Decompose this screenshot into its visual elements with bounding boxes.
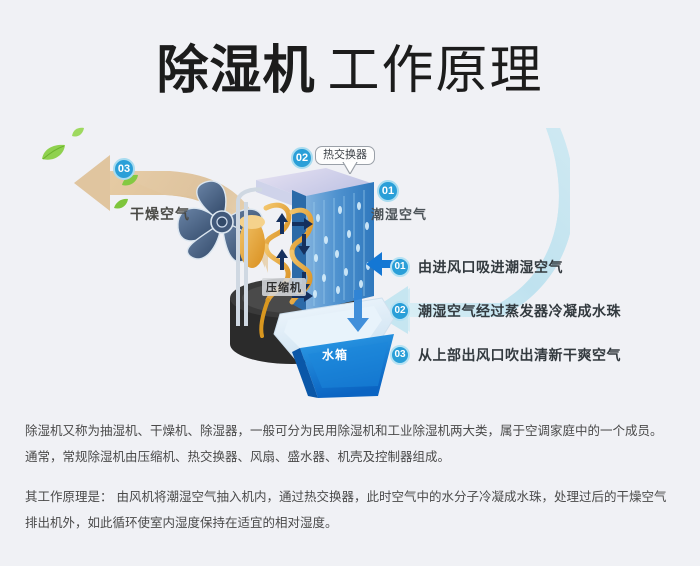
diagram-badge-01: 01	[377, 180, 399, 202]
diagram-badge-03: 03	[113, 158, 135, 180]
legend-label-01: 由进风口吸进潮湿空气	[418, 257, 563, 277]
label-humid-air: 潮湿空气	[371, 204, 427, 223]
legend-item-03: 03 从上部出风口吹出清新干爽空气	[390, 343, 690, 366]
paragraph-2-line-1: 其工作原理是： 由风机将潮湿空气抽入机内，通过热交换器，此时空气中的水分子冷凝成…	[25, 484, 680, 510]
paragraph-2-line-2: 排出机外，如此循环使室内湿度保持在适宜的相对湿度。	[25, 510, 680, 536]
leaf-icon	[71, 127, 85, 138]
diagram-badge-02: 02	[291, 147, 313, 169]
dehumidifier-machine	[222, 148, 402, 398]
label-water-tank: 水箱	[322, 346, 348, 363]
legend-badge-03: 03	[390, 345, 410, 365]
legend-badge-02: 02	[390, 301, 410, 321]
paragraph-1-line-1: 除湿机又称为抽湿机、干燥机、除湿器，一般可分为民用除湿机和工业除湿机两大类，属于…	[25, 418, 680, 444]
page-title: 除湿机工作原理	[0, 28, 700, 103]
legend-item-01: 01 由进风口吸进潮湿空气	[390, 255, 690, 278]
page-title-light: 工作原理	[328, 41, 544, 101]
body-copy: 除湿机又称为抽湿机、干燥机、除湿器，一般可分为民用除湿机和工业除湿机两大类，属于…	[25, 418, 680, 536]
label-compressor: 压缩机	[262, 278, 306, 296]
legend-label-02: 潮湿空气经过蒸发器冷凝成水珠	[418, 301, 621, 321]
callout-tail-icon	[342, 162, 358, 174]
legend-badge-01: 01	[390, 257, 410, 277]
page-title-strong: 除湿机	[156, 41, 315, 101]
legend-list: 01 由进风口吸进潮湿空气 02 潮湿空气经过蒸发器冷凝成水珠 03 从上部出风…	[390, 255, 690, 387]
leaf-icon	[40, 143, 66, 163]
leaf-icon	[113, 198, 129, 210]
legend-label-03: 从上部出风口吹出清新干爽空气	[418, 345, 621, 365]
label-dry-air: 干燥空气	[130, 204, 190, 224]
legend-item-02: 02 潮湿空气经过蒸发器冷凝成水珠	[390, 299, 690, 322]
dehumidifier-infographic: 除湿机工作原理	[0, 0, 700, 566]
paragraph-1-line-2: 通常，常规除湿机由压缩机、热交换器、风扇、盛水器、机壳及控制器组成。	[25, 444, 680, 470]
paragraph-spacer	[25, 470, 680, 484]
